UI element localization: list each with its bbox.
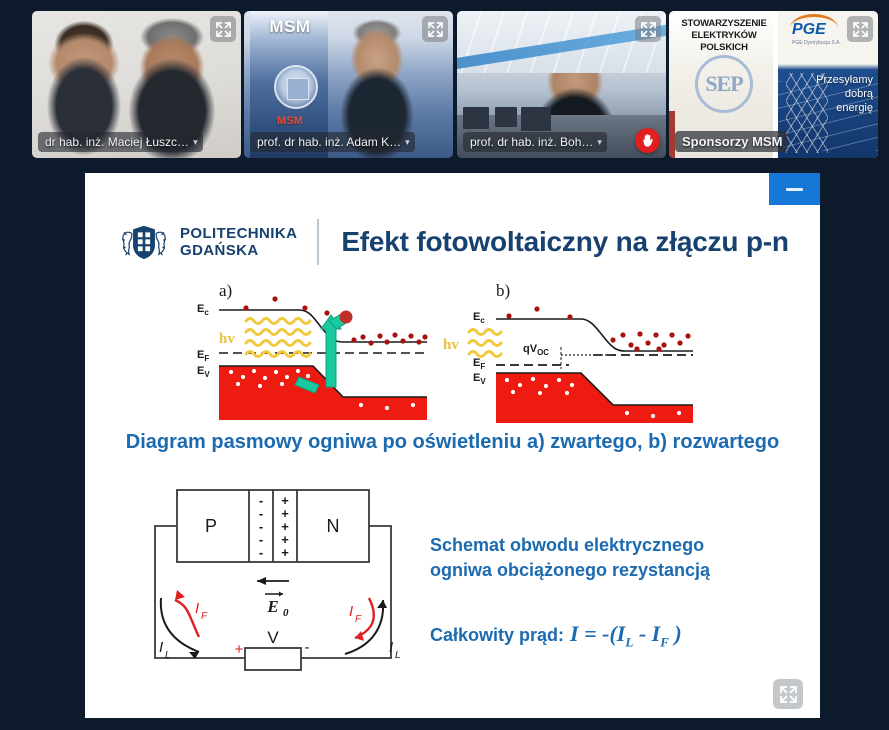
equipment-decor xyxy=(521,107,551,131)
participant-name-label-3[interactable]: prof. dr hab. inż. Boh… ▾ xyxy=(463,132,607,152)
participant-tile-4[interactable]: STOWARZYSZENIE ELEKTRYKÓW POLSKICH SEP P… xyxy=(669,11,878,158)
participant-tile-1[interactable]: dr hab. inż. Maciej Łuszc… ▾ xyxy=(32,11,241,158)
pge-logo-text: PGE xyxy=(792,21,826,39)
participant-name-label-1[interactable]: dr hab. inż. Maciej Łuszc… ▾ xyxy=(38,132,203,152)
svg-text:+: + xyxy=(235,641,244,658)
slide-title: Efekt fotowoltaiczny na złączu p-n xyxy=(341,226,788,258)
band-diagram-a: a) Ec EF EV hv xyxy=(191,277,451,427)
svg-text:F: F xyxy=(201,611,208,622)
video-conference-screen: dr hab. inż. Maciej Łuszc… ▾ MSM MSM pro… xyxy=(0,0,889,730)
sponsor-slogan: Przesyłamy dobrą energię xyxy=(811,73,873,115)
participant-name-label-4[interactable]: Sponsorzy MSM xyxy=(675,131,787,152)
diagram-caption: Diagram pasmowy ogniwa po oświetleniu a)… xyxy=(85,431,820,454)
band-diagram-b: b) Ec EF EV hv qVOC xyxy=(441,277,711,427)
pge-logo-subtext: PGE Dystrybucja S.A. xyxy=(792,40,841,46)
shared-slide: POLITECHNIKA GDAŃSKA Efekt fotowoltaiczn… xyxy=(85,173,820,718)
participant-name-4: Sponsorzy MSM xyxy=(682,134,782,149)
slide-header: POLITECHNIKA GDAŃSKA Efekt fotowoltaiczn… xyxy=(85,211,820,273)
equipment-decor xyxy=(463,107,489,129)
expand-icon[interactable] xyxy=(635,16,661,42)
participant-tile-3[interactable]: prof. dr hab. inż. Boh… ▾ xyxy=(457,11,666,158)
sponsor-title: STOWARZYSZENIE ELEKTRYKÓW POLSKICH xyxy=(673,18,775,54)
svg-text:-: - xyxy=(259,545,263,560)
expand-icon[interactable] xyxy=(422,16,448,42)
chevron-down-icon[interactable]: ▾ xyxy=(193,138,198,147)
msm-banner-subtitle: MSM xyxy=(257,115,323,128)
expand-icon[interactable] xyxy=(847,16,873,42)
svg-text:I: I xyxy=(349,603,353,620)
participant-tile-2[interactable]: MSM MSM prof. dr hab. inż. Adam K… ▾ xyxy=(244,11,453,158)
total-current-row: Całkowity prąd: I = -(IL - IF ) xyxy=(430,621,800,650)
svg-text:N: N xyxy=(327,516,340,536)
politechnika-gdanska-logo: POLITECHNIKA GDAŃSKA xyxy=(116,221,297,263)
svg-text:L: L xyxy=(395,650,401,661)
circuit-description: Schemat obwodu elektrycznego ogniwa obci… xyxy=(430,533,800,583)
participant-name-1: dr hab. inż. Maciej Łuszc… xyxy=(45,135,189,149)
sep-logo-icon: SEP xyxy=(695,55,753,113)
svg-text:I: I xyxy=(159,639,163,656)
header-divider xyxy=(317,219,319,265)
band-diagram-b-graphic xyxy=(441,277,711,427)
participant-name-3: prof. dr hab. inż. Boh… xyxy=(470,135,593,149)
participant-name-label-2[interactable]: prof. dr hab. inż. Adam K… ▾ xyxy=(250,132,415,152)
svg-text:I: I xyxy=(195,600,199,617)
logo-wordmark: POLITECHNIKA GDAŃSKA xyxy=(180,225,297,259)
minimize-icon[interactable] xyxy=(769,173,820,205)
logo-line-1: POLITECHNIKA xyxy=(180,225,297,242)
participant-video-strip: dr hab. inż. Maciej Łuszc… ▾ MSM MSM pro… xyxy=(0,0,889,170)
svg-text:0: 0 xyxy=(283,607,289,619)
band-diagrams: a) Ec EF EV hv xyxy=(85,277,820,427)
svg-text:-: - xyxy=(305,639,310,656)
circuit-diagram: P N --- -- +++ ++ E 0 xyxy=(133,480,433,685)
msm-seal-icon xyxy=(274,65,318,109)
circuit-diagram-graphic: P N --- -- +++ ++ E 0 xyxy=(133,480,433,685)
chevron-down-icon[interactable]: ▾ xyxy=(597,138,602,147)
svg-text:L: L xyxy=(165,650,171,661)
svg-text:I: I xyxy=(389,639,393,656)
fullscreen-icon[interactable] xyxy=(773,679,803,709)
equipment-decor xyxy=(495,107,517,127)
logo-line-2: GDAŃSKA xyxy=(180,242,297,259)
chevron-down-icon[interactable]: ▾ xyxy=(405,138,410,147)
svg-text:E: E xyxy=(266,597,278,616)
svg-text:V: V xyxy=(267,628,279,647)
total-current-formula: I = -(IL - IF ) xyxy=(570,621,682,650)
raised-hand-icon[interactable] xyxy=(635,128,660,153)
coat-of-arms-icon xyxy=(116,221,172,263)
band-diagram-a-graphic xyxy=(191,277,451,427)
svg-text:F: F xyxy=(355,614,362,625)
participant-name-2: prof. dr hab. inż. Adam K… xyxy=(257,135,401,149)
circuit-description-line-2: ogniwa obciążonego rezystancją xyxy=(430,558,800,583)
msm-banner-title: MSM xyxy=(255,17,325,37)
lower-text-block: Schemat obwodu elektrycznego ogniwa obci… xyxy=(430,533,800,650)
circuit-description-line-1: Schemat obwodu elektrycznego xyxy=(430,533,800,558)
svg-text:+: + xyxy=(281,545,289,560)
minimize-bar xyxy=(786,188,803,191)
total-current-label: Całkowity prąd: xyxy=(430,625,564,646)
expand-icon[interactable] xyxy=(210,16,236,42)
svg-text:P: P xyxy=(205,516,217,536)
